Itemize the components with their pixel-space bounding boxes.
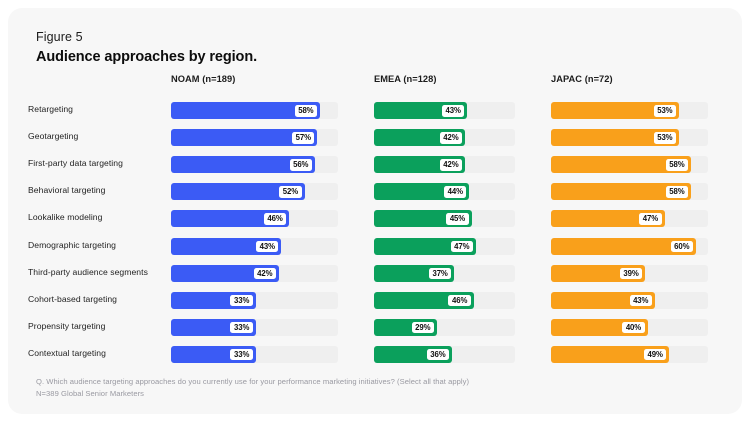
footnote-question: Q. Which audience targeting approaches d… (36, 376, 469, 388)
bar-track-japac: 58% (551, 156, 708, 173)
bar-value-label: 42% (254, 268, 276, 280)
chart-row: Behavioral targeting52%44%58% (8, 181, 742, 203)
bar-track-japac: 53% (551, 129, 708, 146)
chart-row: Propensity targeting33%29%40% (8, 317, 742, 339)
chart-row: Lookalike modeling46%45%47% (8, 208, 742, 230)
bar-value-label: 45% (446, 213, 468, 225)
bar-value-label: 53% (654, 105, 676, 117)
column-header-noam: NOAM (n=189) (171, 74, 235, 84)
chart-row: Retargeting58%43%53% (8, 100, 742, 122)
column-header-emea: EMEA (n=128) (374, 74, 437, 84)
bar-track-noam: 33% (171, 292, 338, 309)
figure-label: Figure 5 (36, 30, 83, 44)
row-label: Propensity targeting (28, 321, 164, 331)
bar-value-label: 58% (666, 186, 688, 198)
bar-value-label: 37% (429, 268, 451, 280)
bar-value-label: 36% (427, 349, 449, 361)
bar-value-label: 60% (671, 241, 693, 253)
bar-track-noam: 58% (171, 102, 338, 119)
bar-track-noam: 52% (171, 183, 338, 200)
bar-value-label: 44% (444, 186, 466, 198)
bar-value-label: 33% (230, 322, 252, 334)
bar-value-label: 42% (440, 159, 462, 171)
bar-value-label: 43% (630, 295, 652, 307)
bar-track-japac: 39% (551, 265, 708, 282)
bar-track-japac: 49% (551, 346, 708, 363)
bar-value-label: 33% (230, 295, 252, 307)
row-label: Lookalike modeling (28, 212, 164, 222)
bar-value-label: 52% (279, 186, 301, 198)
bar-track-emea: 47% (374, 238, 515, 255)
bar-value-label: 33% (230, 349, 252, 361)
bar-track-noam: 46% (171, 210, 338, 227)
bar-value-label: 56% (290, 159, 312, 171)
bar-track-emea: 45% (374, 210, 515, 227)
bar-track-noam: 43% (171, 238, 338, 255)
bar-value-label: 58% (666, 159, 688, 171)
bar-value-label: 46% (264, 213, 286, 225)
chart-row: First-party data targeting56%42%58% (8, 154, 742, 176)
bar-value-label: 58% (295, 105, 317, 117)
bar-track-japac: 58% (551, 183, 708, 200)
chart-row: Cohort-based targeting33%46%43% (8, 290, 742, 312)
row-label: Behavioral targeting (28, 185, 164, 195)
row-label: Retargeting (28, 104, 164, 114)
bar-track-emea: 29% (374, 319, 515, 336)
bar-track-emea: 36% (374, 346, 515, 363)
row-label: Cohort-based targeting (28, 294, 164, 304)
chart-row: Contextual targeting33%36%49% (8, 344, 742, 366)
bar-track-noam: 56% (171, 156, 338, 173)
bar-track-emea: 42% (374, 129, 515, 146)
bar-track-emea: 46% (374, 292, 515, 309)
row-label: Contextual targeting (28, 348, 164, 358)
bar-track-noam: 42% (171, 265, 338, 282)
bar-value-label: 29% (412, 322, 434, 334)
bar-value-label: 39% (620, 268, 642, 280)
bar-value-label: 49% (644, 349, 666, 361)
row-label: First-party data targeting (28, 158, 164, 168)
row-label: Geotargeting (28, 131, 164, 141)
bar-value-label: 43% (442, 105, 464, 117)
bar-track-japac: 43% (551, 292, 708, 309)
bar-value-label: 47% (639, 213, 661, 225)
bar-track-noam: 57% (171, 129, 338, 146)
bar-track-japac: 47% (551, 210, 708, 227)
chart-row: Geotargeting57%42%53% (8, 127, 742, 149)
bar-value-label: 47% (451, 241, 473, 253)
row-label: Demographic targeting (28, 240, 164, 250)
footnote: Q. Which audience targeting approaches d… (36, 376, 469, 399)
page-title: Audience approaches by region. (36, 49, 257, 65)
bar-value-label: 53% (654, 132, 676, 144)
column-header-japac: JAPAC (n=72) (551, 74, 613, 84)
bar-track-emea: 37% (374, 265, 515, 282)
bar-value-label: 42% (440, 132, 462, 144)
bar-track-noam: 33% (171, 319, 338, 336)
bar-value-label: 46% (448, 295, 470, 307)
bar-value-label: 57% (292, 132, 314, 144)
bar-track-japac: 60% (551, 238, 708, 255)
bar-value-label: 43% (256, 241, 278, 253)
bar-value-label: 40% (622, 322, 644, 334)
bar-track-noam: 33% (171, 346, 338, 363)
bar-track-japac: 40% (551, 319, 708, 336)
chart-card: Figure 5 Audience approaches by region. … (8, 8, 742, 414)
bar-track-japac: 53% (551, 102, 708, 119)
footnote-base: N=389 Global Senior Marketers (36, 388, 469, 400)
chart-row: Third-party audience segments42%37%39% (8, 263, 742, 285)
row-label: Third-party audience segments (28, 267, 164, 277)
bar-track-emea: 44% (374, 183, 515, 200)
bar-track-emea: 42% (374, 156, 515, 173)
chart-row: Demographic targeting43%47%60% (8, 236, 742, 258)
bar-track-emea: 43% (374, 102, 515, 119)
